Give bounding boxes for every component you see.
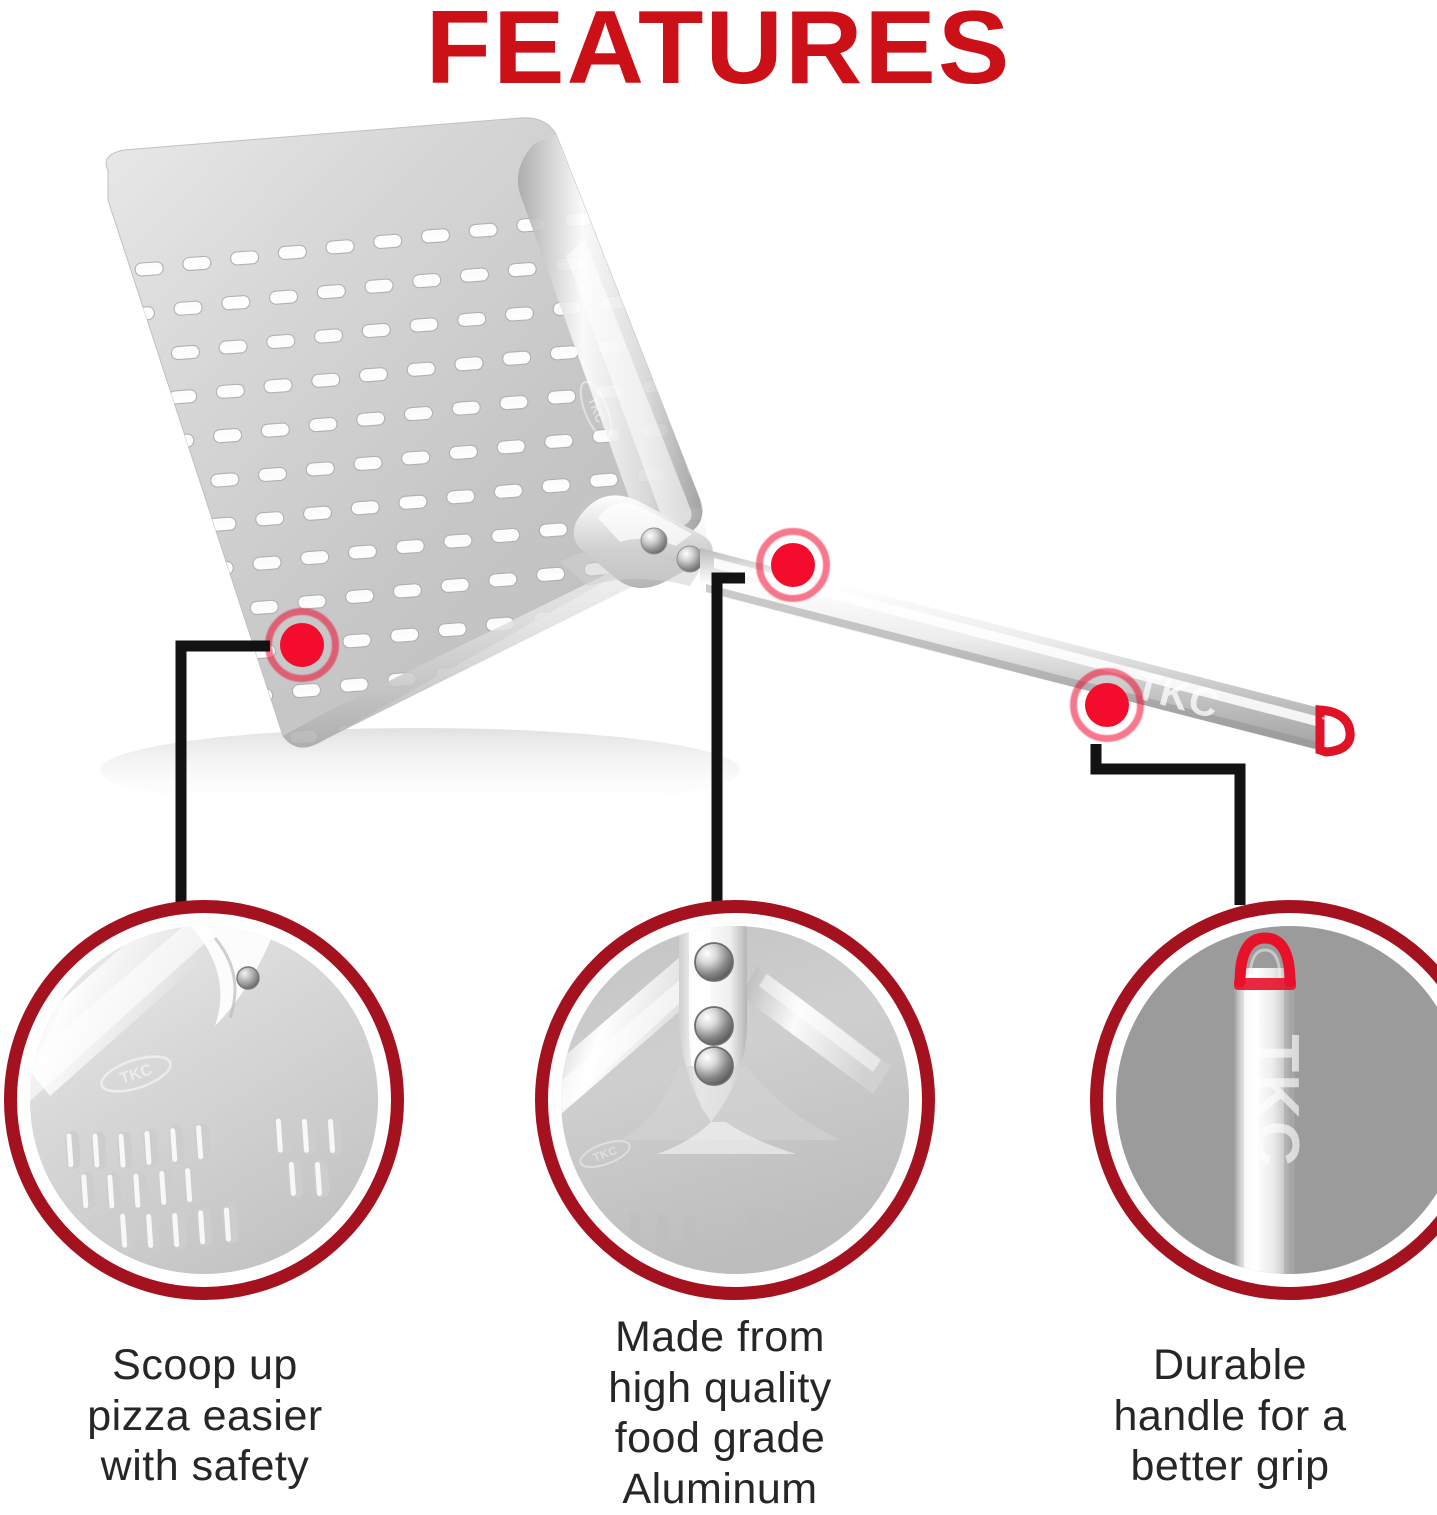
marker-dot-icon bbox=[1085, 683, 1129, 727]
caption-line: handle for a bbox=[1015, 1391, 1437, 1442]
callout-marker-blade[interactable] bbox=[265, 608, 339, 682]
zoom-circle-handle-grip: TKC bbox=[1090, 900, 1437, 1300]
caption-line: food grade bbox=[505, 1413, 935, 1464]
caption-line: Made from bbox=[505, 1312, 935, 1363]
caption-line: Durable bbox=[1015, 1340, 1437, 1391]
zoom-circle-border bbox=[4, 900, 404, 1300]
product-hero-image: TKC TKC bbox=[0, 110, 1437, 900]
page-title: FEATURES bbox=[0, 0, 1437, 103]
zoom-circle-border bbox=[1090, 900, 1437, 1300]
caption-material: Made from high quality food grade Alumin… bbox=[505, 1312, 935, 1515]
marker-dot-icon bbox=[771, 543, 815, 587]
caption-line: better grip bbox=[1015, 1441, 1437, 1492]
svg-text:TKC: TKC bbox=[1130, 663, 1224, 727]
caption-line: pizza easier bbox=[0, 1391, 420, 1442]
callout-marker-rivet-joint[interactable] bbox=[756, 528, 830, 602]
marker-dot-icon bbox=[280, 623, 324, 667]
handle-brand-mark: TKC bbox=[1130, 663, 1224, 727]
zoom-circle-border bbox=[535, 900, 935, 1300]
caption-line: with safety bbox=[0, 1441, 420, 1492]
caption-line: Aluminum bbox=[505, 1464, 935, 1515]
caption-line: Scoop up bbox=[0, 1340, 420, 1391]
callout-marker-handle-end[interactable] bbox=[1070, 668, 1144, 742]
caption-line: high quality bbox=[505, 1363, 935, 1414]
zoom-circle-blade-perforations: TKC bbox=[4, 900, 404, 1300]
caption-handle: Durable handle for a better grip bbox=[1015, 1340, 1437, 1492]
zoom-circle-rivet-joint: TKC bbox=[535, 900, 935, 1300]
handle-hang-loop bbox=[1320, 710, 1350, 752]
caption-blade: Scoop up pizza easier with safety bbox=[0, 1340, 420, 1492]
